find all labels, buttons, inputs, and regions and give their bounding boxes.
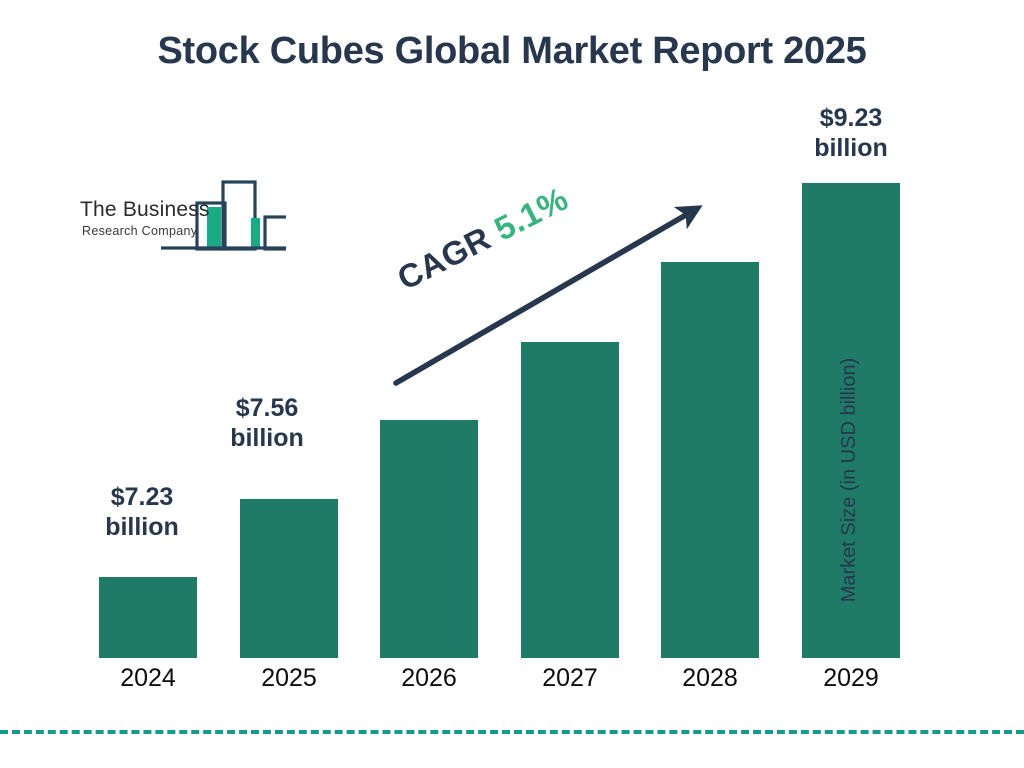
y-axis-label: Market Size (in USD billion)	[838, 330, 861, 630]
x-tick-2026: 2026	[359, 664, 499, 693]
value-label-2025-amount: $7.56	[187, 394, 347, 424]
bar-2024	[99, 577, 197, 658]
value-label-2025: $7.56 billion	[187, 394, 347, 453]
bar-2028	[661, 262, 759, 658]
value-label-2029: $9.23 billion	[771, 104, 931, 163]
chart-page: Stock Cubes Global Market Report 2025 Th…	[0, 0, 1024, 768]
value-label-2025-unit: billion	[187, 424, 347, 454]
x-tick-2029: 2029	[781, 664, 921, 693]
bar-2026	[380, 420, 478, 658]
bar-2025	[240, 499, 338, 658]
x-tick-2024: 2024	[78, 664, 218, 693]
bar-2027	[521, 342, 619, 658]
value-label-2024-amount: $7.23	[62, 483, 222, 513]
value-label-2024: $7.23 billion	[62, 483, 222, 542]
footer-divider	[0, 730, 1024, 734]
value-label-2024-unit: billion	[62, 513, 222, 543]
x-tick-2025: 2025	[219, 664, 359, 693]
value-label-2029-unit: billion	[771, 134, 931, 164]
x-tick-2028: 2028	[640, 664, 780, 693]
bar-chart-plot: 2024 2025 2026 2027 2028 2029 $7.23 bill…	[0, 0, 1024, 768]
x-tick-2027: 2027	[500, 664, 640, 693]
value-label-2029-amount: $9.23	[771, 104, 931, 134]
